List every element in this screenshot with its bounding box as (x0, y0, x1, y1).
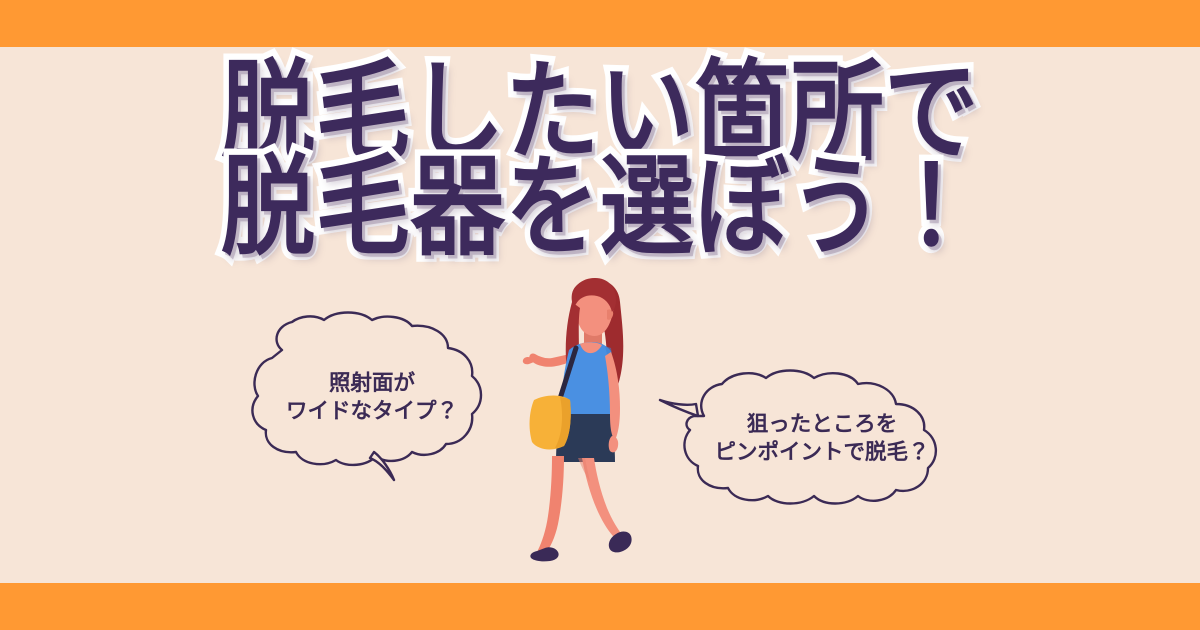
headline: 脱毛したい箇所で 脱毛器を選ぼう！ (0, 58, 1200, 246)
bottom-accent-bar (0, 583, 1200, 630)
woman-back-leg (530, 456, 564, 561)
top-accent-bar (0, 0, 1200, 47)
woman-back-shoe (530, 547, 558, 561)
bubble-left-cloud (252, 313, 481, 465)
bubble-right-tail (660, 400, 698, 416)
bubble-right-cloud (684, 371, 935, 504)
banner: 脱毛したい箇所で 脱毛器を選ぼう！ (0, 0, 1200, 630)
woman-back-arm (523, 353, 570, 366)
speech-bubble-right: 狙ったところを ピンポイントで脱毛？ (658, 372, 958, 504)
speech-bubble-left: 照射面が ワイドなタイプ？ (248, 312, 496, 482)
headline-line-2: 脱毛器を選ぼう！ (0, 153, 1200, 261)
headline-line-1: 脱毛したい箇所で (0, 58, 1200, 166)
woman-front-leg (582, 458, 632, 552)
